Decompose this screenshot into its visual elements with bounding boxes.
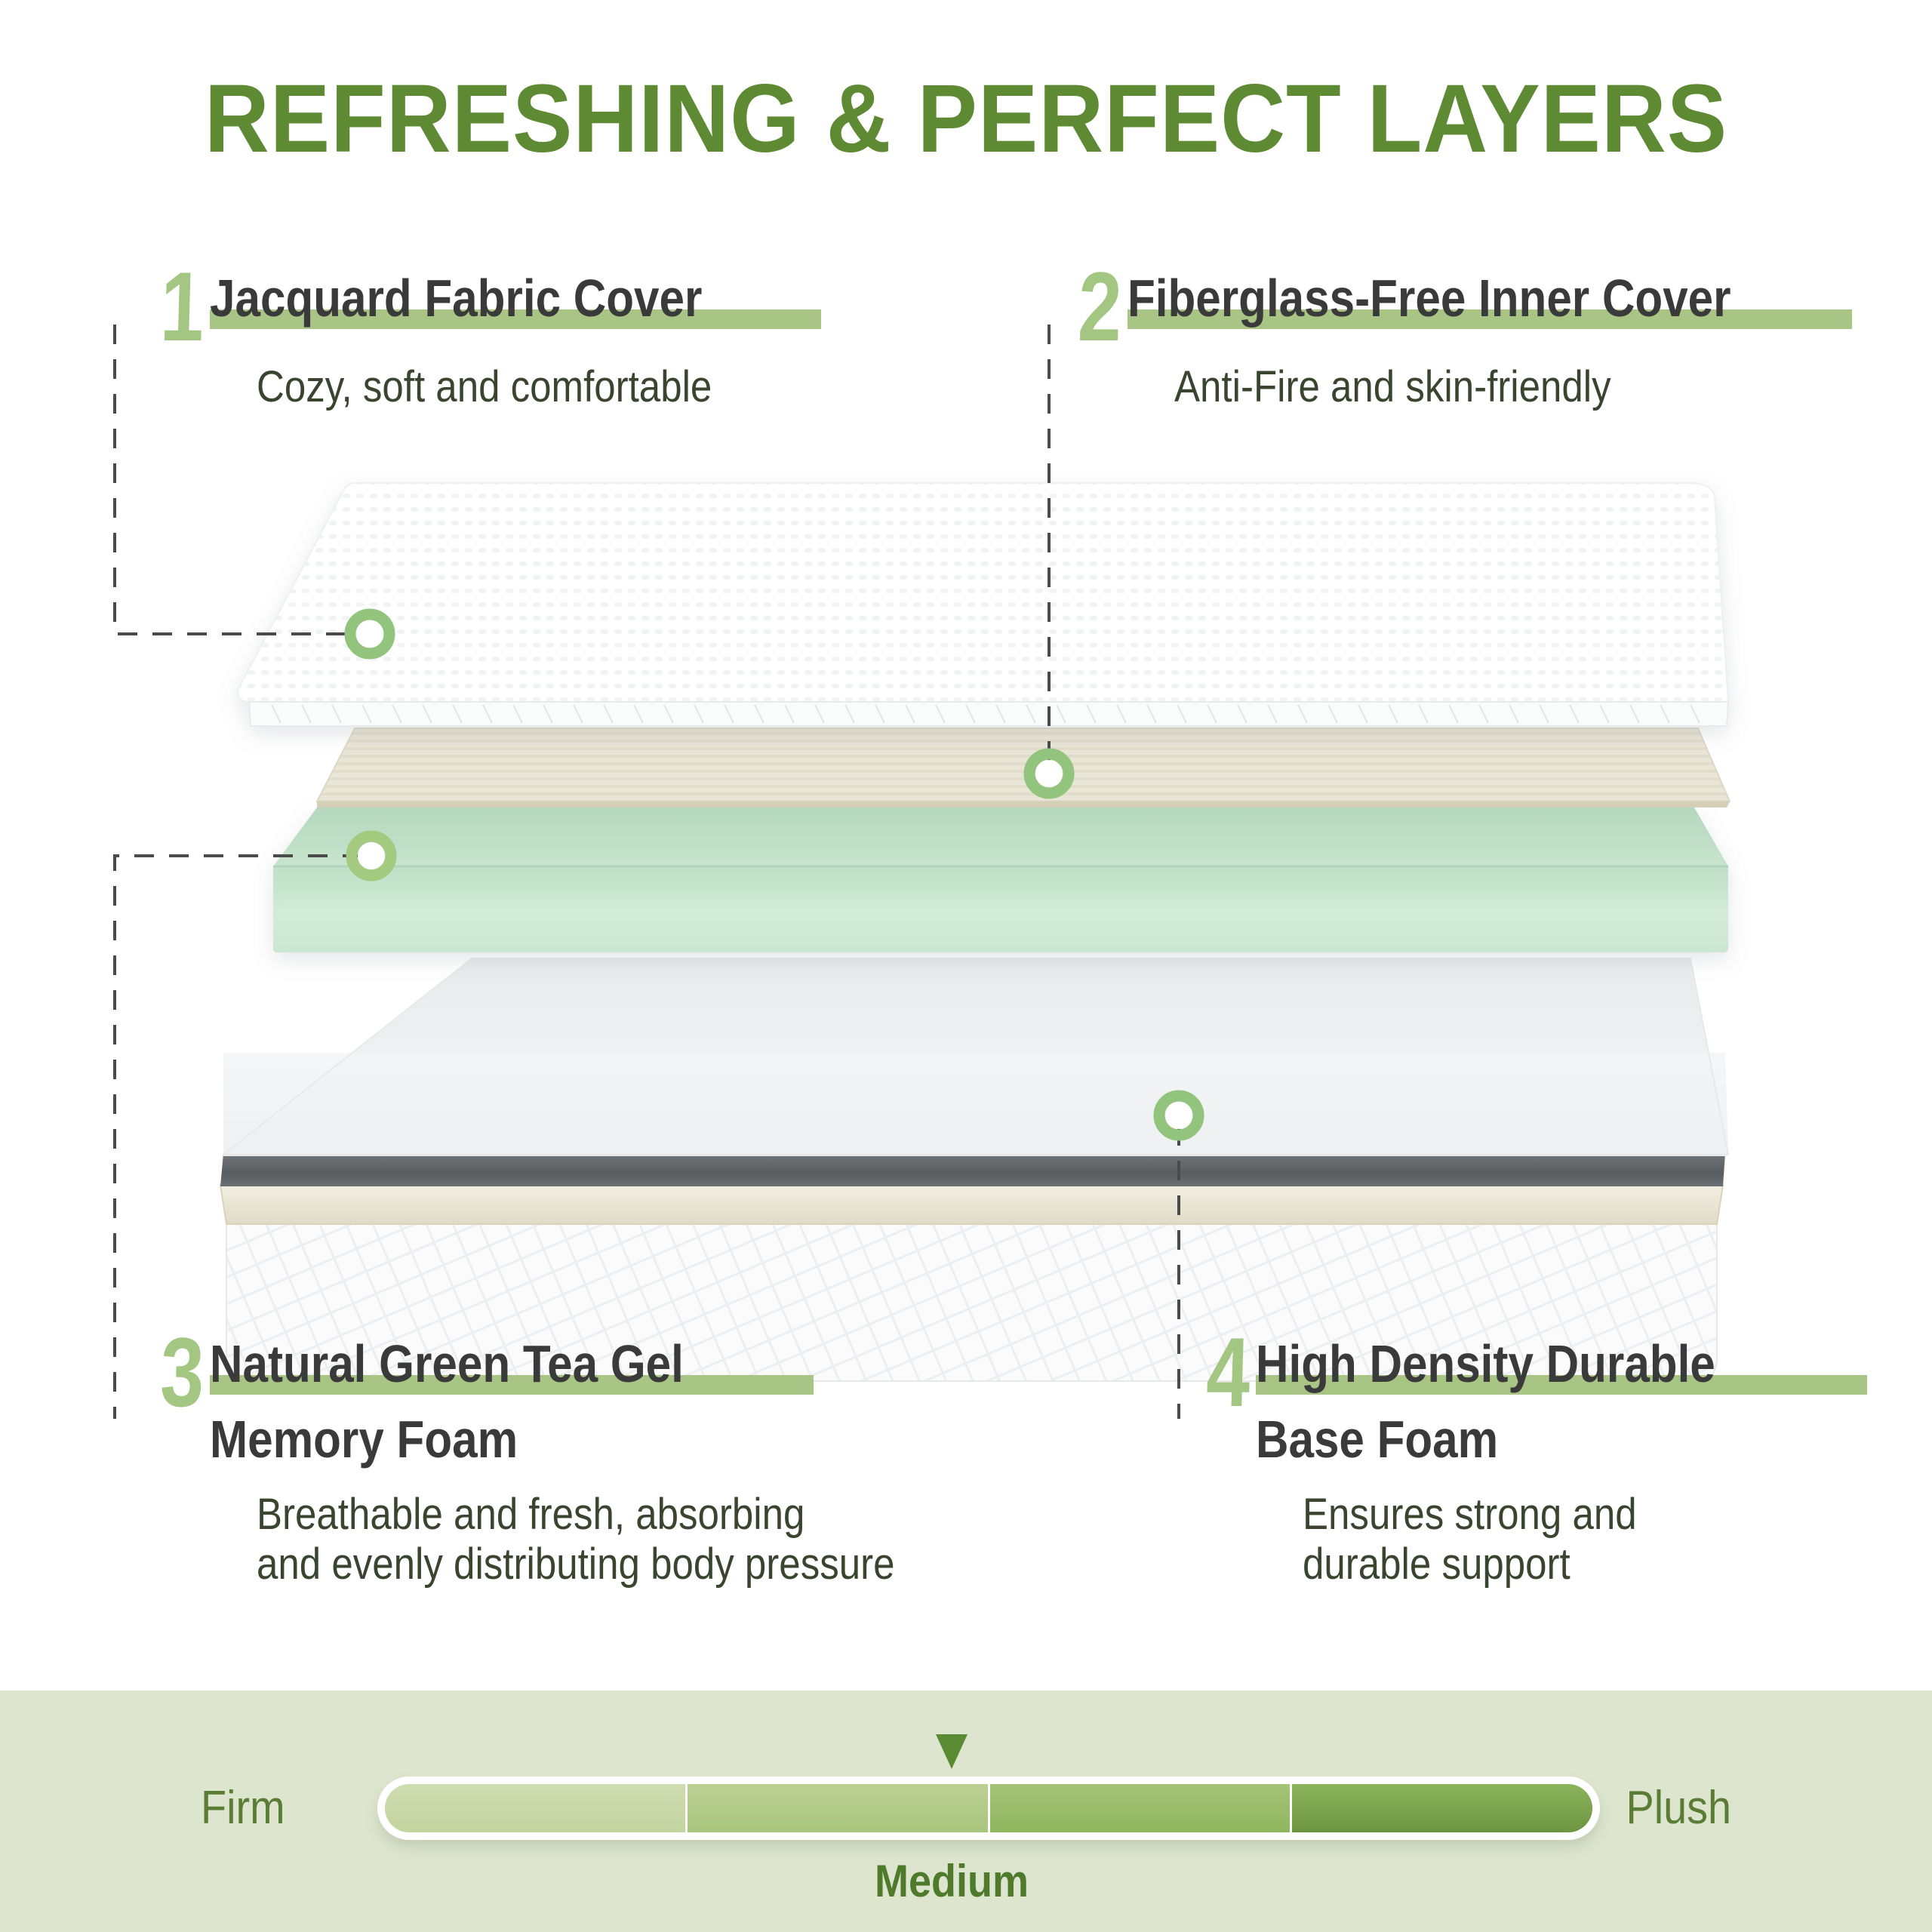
callout-3: 3 Natural Green Tea Gel Memory Foam Brea…	[162, 1336, 982, 1589]
callout-4: 4 High Density Durable Base Foam Ensures…	[1207, 1336, 1790, 1589]
firmness-segment-1[interactable]	[385, 1784, 688, 1832]
callout-2-subtitle: Anti-Fire and skin-friendly	[1174, 362, 1751, 412]
callout-1-number: 1	[159, 270, 205, 343]
layer-jacquard-fabric-cover	[238, 483, 1728, 726]
firmness-segment-4[interactable]	[1292, 1784, 1592, 1832]
callout-1-heading-row: 1 Jacquard Fabric Cover	[162, 270, 783, 343]
callout-3-heading-row: 3 Natural Green Tea Gel Memory Foam	[162, 1336, 982, 1467]
callout-4-number: 4	[1205, 1336, 1251, 1408]
callout-1-heading-wrap: Jacquard Fabric Cover	[210, 270, 783, 326]
callout-4-heading-row: 4 High Density Durable Base Foam	[1207, 1336, 1790, 1467]
firmness-scale-footer: Firm Plush Medium	[0, 1690, 1932, 1932]
callout-4-heading-line2: Base Foam	[1256, 1411, 1715, 1467]
callout-2-heading-wrap: Fiberglass-Free Inner Cover	[1128, 270, 1829, 326]
callout-3-number: 3	[159, 1336, 205, 1408]
layer-cream-edge-strip	[220, 1185, 1723, 1224]
firmness-bar-track[interactable]	[385, 1784, 1592, 1832]
callout-2: 2 Fiberglass-Free Inner Cover Anti-Fire …	[1079, 270, 1829, 412]
callout-2-heading: Fiberglass-Free Inner Cover	[1128, 270, 1731, 326]
callout-1-subtitle: Cozy, soft and comfortable	[257, 362, 719, 412]
firmness-marker-icon	[936, 1734, 968, 1769]
layer-dark-edge-band	[220, 1153, 1725, 1186]
firmness-bar[interactable]	[377, 1777, 1600, 1840]
firmness-segment-3[interactable]	[990, 1784, 1293, 1832]
firmness-label-plush: Plush	[1626, 1781, 1731, 1835]
firmness-segment-2[interactable]	[688, 1784, 990, 1832]
callout-4-subtitle-line2: durable support	[1303, 1540, 1732, 1589]
firmness-current-label: Medium	[875, 1855, 1029, 1907]
firmness-label-firm: Firm	[201, 1781, 285, 1835]
layer-fiberglass-free-inner-cover	[317, 728, 1730, 808]
callout-3-subtitle-line2: and evenly distributing body pressure	[257, 1540, 895, 1589]
callout-3-heading-line2: Memory Foam	[210, 1411, 684, 1467]
callout-4-heading-wrap: High Density Durable Base Foam	[1256, 1336, 1790, 1467]
layer-high-density-base-foam	[223, 958, 1728, 1156]
callout-1-heading: Jacquard Fabric Cover	[210, 270, 702, 326]
callout-4-subtitle-line1: Ensures strong and	[1303, 1490, 1732, 1540]
callout-4-heading-line1: High Density Durable	[1256, 1336, 1715, 1392]
callout-1: 1 Jacquard Fabric Cover Cozy, soft and c…	[162, 270, 783, 412]
callout-3-heading-wrap: Natural Green Tea Gel Memory Foam	[210, 1336, 761, 1467]
callout-3-heading-line1: Natural Green Tea Gel	[210, 1336, 684, 1392]
callout-2-number: 2	[1077, 270, 1123, 343]
layer-green-tea-gel-memory-foam	[273, 808, 1728, 952]
callout-2-heading-row: 2 Fiberglass-Free Inner Cover	[1079, 270, 1829, 343]
callout-3-subtitle-line1: Breathable and fresh, absorbing	[257, 1490, 895, 1540]
infographic-stage: REFRESHING & PERFECT LAYERS	[0, 0, 1932, 1932]
